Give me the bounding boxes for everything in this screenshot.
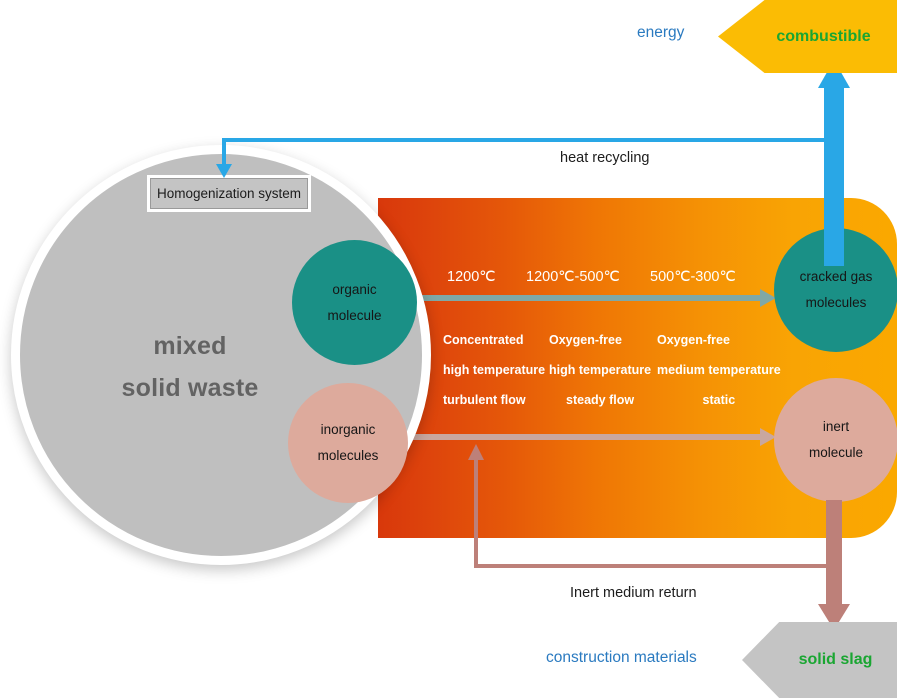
condition-column-3: Oxygen-free medium temperature static xyxy=(657,325,781,415)
organic-flow-arrow-line xyxy=(408,295,760,301)
heat-recycling-descender xyxy=(222,138,226,166)
condition-column-2: Oxygen-free high temperature steady flow xyxy=(549,325,651,415)
temperature-stage-3: 500℃-300℃ xyxy=(650,269,736,285)
inorganic-flow-arrow-line xyxy=(408,434,760,440)
inert-molecule-circle: inert molecule xyxy=(774,378,897,502)
condition-1-line-3: turbulent flow xyxy=(443,385,545,415)
organic-molecule-line-1: organic xyxy=(332,277,376,303)
inert-return-descender xyxy=(832,500,836,568)
condition-3-line-2: medium temperature xyxy=(657,355,781,385)
homogenization-system-label: Homogenization system xyxy=(157,186,301,201)
heat-recycling-riser xyxy=(832,140,836,260)
condition-1-line-2: high temperature xyxy=(443,355,545,385)
inert-medium-return-label: Inert medium return xyxy=(570,585,697,601)
condition-3-line-1: Oxygen-free xyxy=(657,325,781,355)
heat-recycling-arrowhead-icon xyxy=(216,164,232,178)
energy-label: energy xyxy=(637,24,684,42)
mixed-solid-waste-label: mixed solid waste xyxy=(60,325,320,409)
condition-3-line-3: static xyxy=(657,385,781,415)
mixed-solid-waste-line-2: solid waste xyxy=(60,367,320,409)
inorganic-molecule-circle: inorganic molecules xyxy=(288,383,408,503)
temperature-stage-1: 1200℃ xyxy=(447,269,496,285)
inert-return-horizontal-line xyxy=(474,564,834,568)
diagram-canvas: 1200℃ 1200℃-500℃ 500℃-300℃ Concentrated … xyxy=(0,0,897,698)
cracked-gas-line-1: cracked gas xyxy=(800,264,873,290)
solid-slag-output-banner: solid slag xyxy=(742,622,897,698)
cracked-gas-line-2: molecules xyxy=(806,290,867,316)
condition-column-1: Concentrated high temperature turbulent … xyxy=(443,325,545,415)
condition-2-line-2: high temperature xyxy=(549,355,651,385)
mixed-solid-waste-line-1: mixed xyxy=(60,325,320,367)
organic-molecule-line-2: molecule xyxy=(327,303,381,329)
inorganic-molecule-line-1: inorganic xyxy=(321,417,376,443)
inert-molecule-line-2: molecule xyxy=(809,440,863,466)
temperature-stage-2: 1200℃-500℃ xyxy=(526,269,620,285)
inert-return-arrowhead-icon xyxy=(468,444,484,460)
combustible-label: combustible xyxy=(744,28,870,46)
heat-recycling-horizontal-line xyxy=(222,138,836,142)
homogenization-system-box[interactable]: Homogenization system xyxy=(150,178,308,209)
condition-2-line-1: Oxygen-free xyxy=(549,325,651,355)
inert-molecule-line-1: inert xyxy=(823,414,849,440)
inert-return-riser xyxy=(474,458,478,566)
heat-recycling-label: heat recycling xyxy=(560,150,649,166)
inorganic-molecule-line-2: molecules xyxy=(318,443,379,469)
condition-1-line-1: Concentrated xyxy=(443,325,545,355)
organic-molecule-circle: organic molecule xyxy=(292,240,417,365)
construction-materials-label: construction materials xyxy=(546,649,697,667)
solid-slag-label: solid slag xyxy=(767,651,873,669)
condition-2-line-3: steady flow xyxy=(549,385,651,415)
combustible-output-banner: combustible xyxy=(718,0,897,73)
